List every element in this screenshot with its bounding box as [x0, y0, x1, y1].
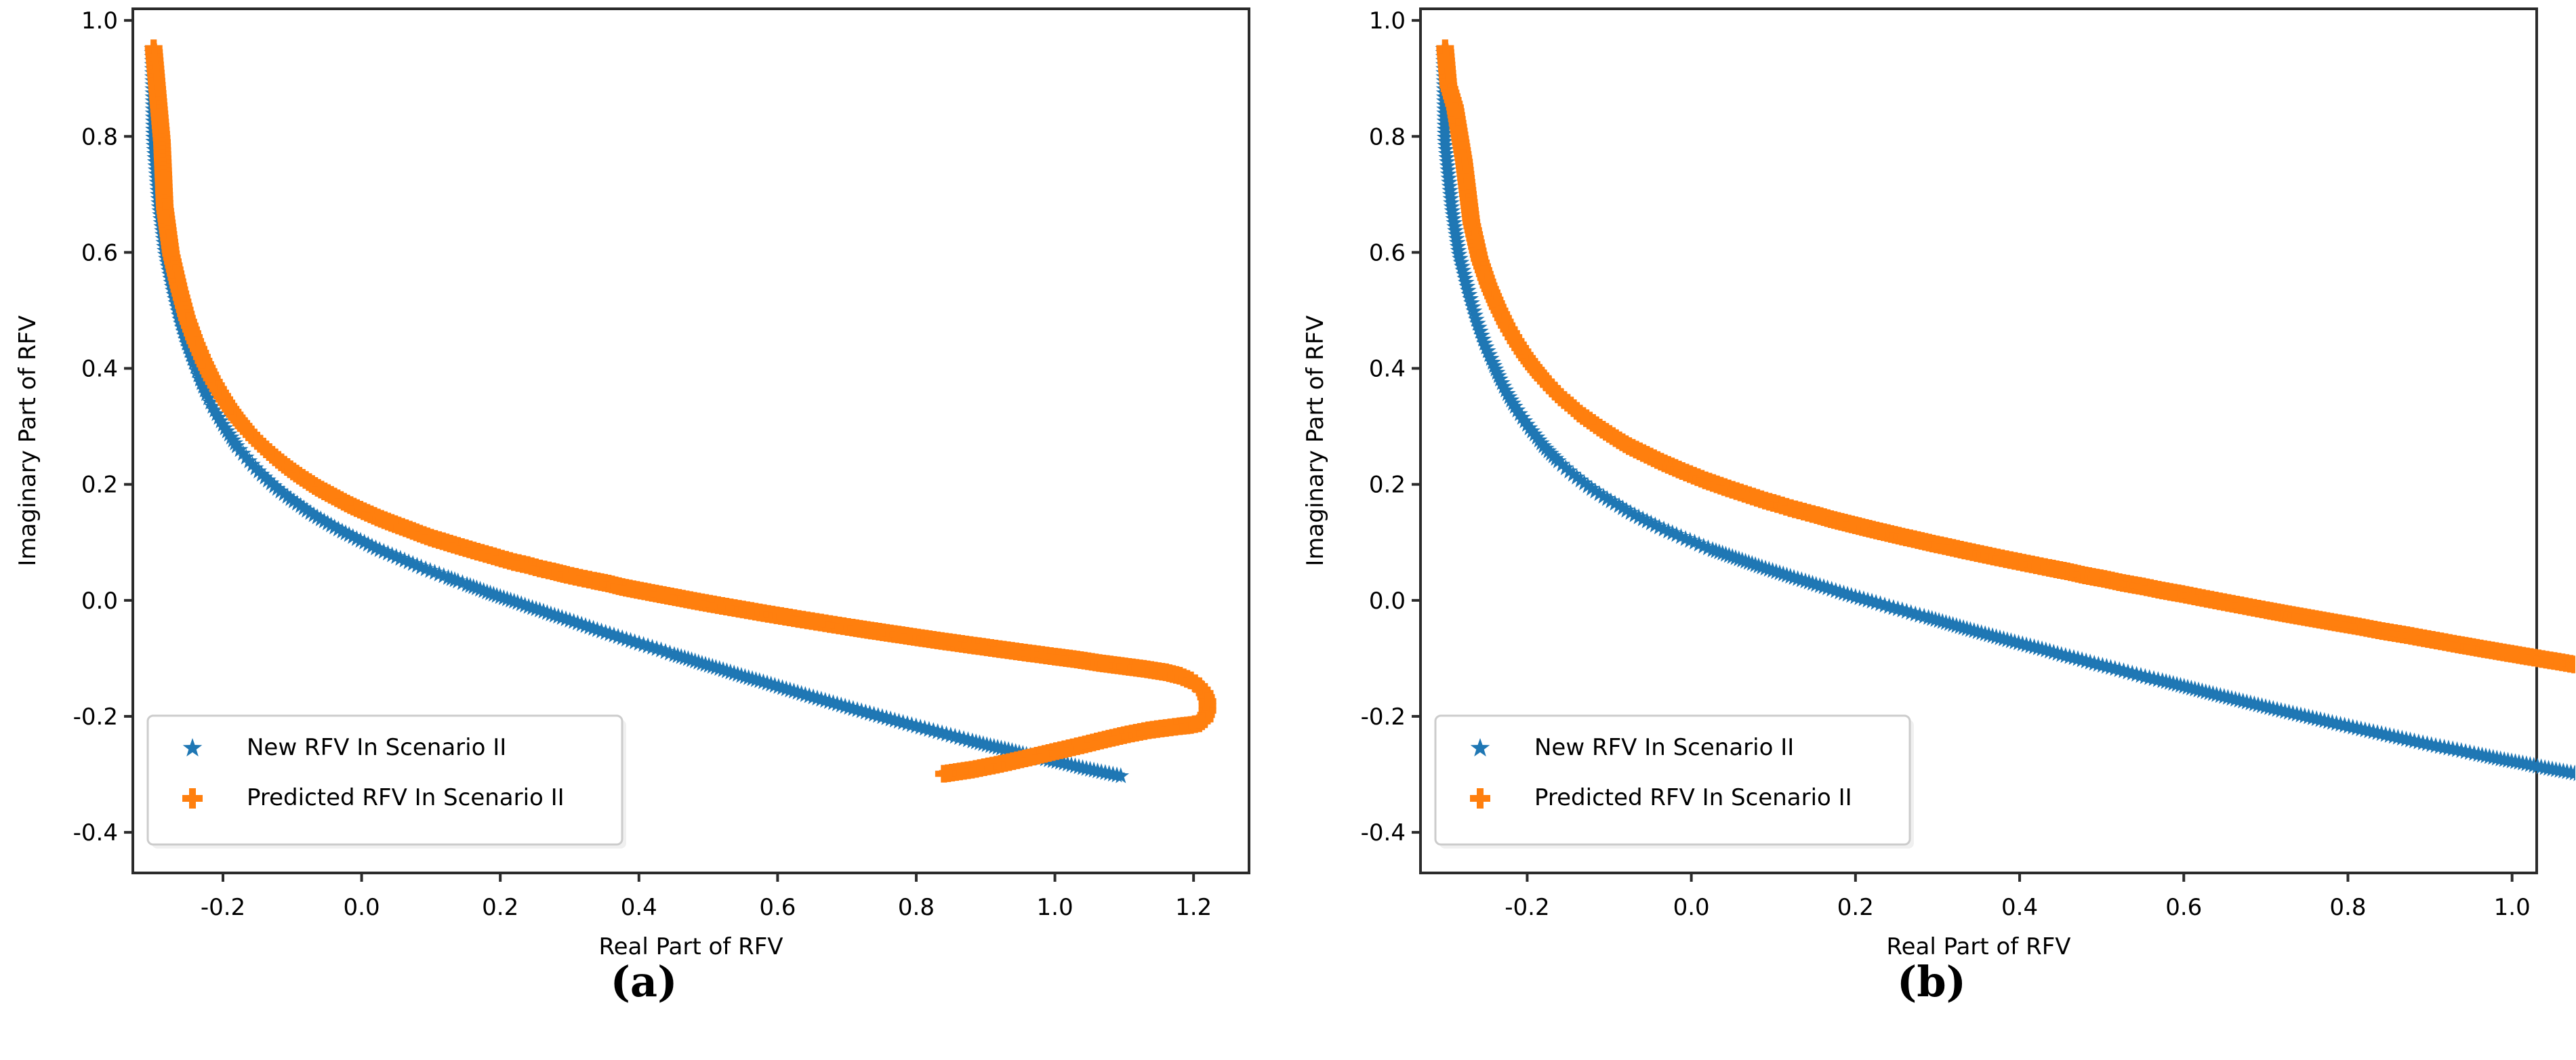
x-tick-label: 0.6: [759, 894, 796, 921]
panel-a-caption: (a): [0, 961, 1288, 1003]
panel-a: -0.20.00.20.40.60.81.01.2-0.4-0.20.00.20…: [0, 0, 1288, 1060]
legend[interactable]: New RFV In Scenario IIPredicted RFV In S…: [148, 716, 626, 849]
legend[interactable]: New RFV In Scenario IIPredicted RFV In S…: [1435, 716, 1914, 849]
y-tick-label: -0.4: [1361, 819, 1406, 847]
x-tick-label: 1.0: [1037, 894, 1074, 921]
y-tick-label: 0.4: [81, 356, 118, 383]
y-axis-title: Imaginary Part of RFV: [14, 315, 41, 566]
x-tick-label: 0.6: [2165, 894, 2202, 921]
x-tick-label: 0.4: [2001, 894, 2038, 921]
panel-a-plot: -0.20.00.20.40.60.81.01.2-0.4-0.20.00.20…: [0, 0, 1288, 962]
y-tick-label: 0.4: [1369, 356, 1406, 383]
x-tick-label: 1.2: [1175, 894, 1212, 921]
panel-b: -0.20.00.20.40.60.81.0-0.4-0.20.00.20.40…: [1288, 0, 2575, 1060]
x-axis-title: Real Part of RFV: [1886, 933, 2070, 960]
x-tick-label: -0.2: [201, 894, 245, 921]
x-tick-label: 0.4: [621, 894, 657, 921]
y-tick-label: 1.0: [1369, 7, 1406, 35]
y-tick-label: 0.2: [81, 472, 118, 499]
y-tick-label: 0.8: [81, 123, 118, 150]
x-tick-label: 0.2: [482, 894, 518, 921]
x-tick-label: 0.8: [898, 894, 935, 921]
x-axis-title: Real Part of RFV: [598, 933, 783, 960]
y-tick-label: 0.8: [1369, 123, 1406, 150]
y-tick-label: 1.0: [81, 7, 118, 35]
x-tick-label: 0.0: [344, 894, 380, 921]
y-tick-label: -0.4: [73, 819, 118, 847]
legend-item-label: New RFV In Scenario II: [247, 734, 506, 761]
legend-item-label: New RFV In Scenario II: [1534, 734, 1794, 761]
y-tick-label: -0.2: [1361, 704, 1406, 731]
legend-item-label: Predicted RFV In Scenario II: [247, 784, 565, 811]
panel-b-plot: -0.20.00.20.40.60.81.0-0.4-0.20.00.20.40…: [1288, 0, 2575, 962]
figure-root: -0.20.00.20.40.60.81.01.2-0.4-0.20.00.20…: [0, 0, 2576, 1060]
y-tick-label: 0.0: [81, 588, 118, 615]
panel-b-caption: (b): [1288, 961, 2575, 1003]
x-tick-label: 0.0: [1673, 894, 1710, 921]
legend-item-label: Predicted RFV In Scenario II: [1534, 784, 1852, 811]
x-tick-label: -0.2: [1505, 894, 1549, 921]
y-axis-title: Imaginary Part of RFV: [1302, 315, 1329, 566]
y-tick-label: 0.6: [1369, 239, 1406, 266]
x-tick-label: 1.0: [2494, 894, 2531, 921]
y-tick-label: -0.2: [73, 704, 118, 731]
x-tick-label: 0.8: [2329, 894, 2366, 921]
x-tick-label: 0.2: [1837, 894, 1874, 921]
y-tick-label: 0.2: [1369, 472, 1406, 499]
y-tick-label: 0.0: [1369, 588, 1406, 615]
y-tick-label: 0.6: [81, 239, 118, 266]
